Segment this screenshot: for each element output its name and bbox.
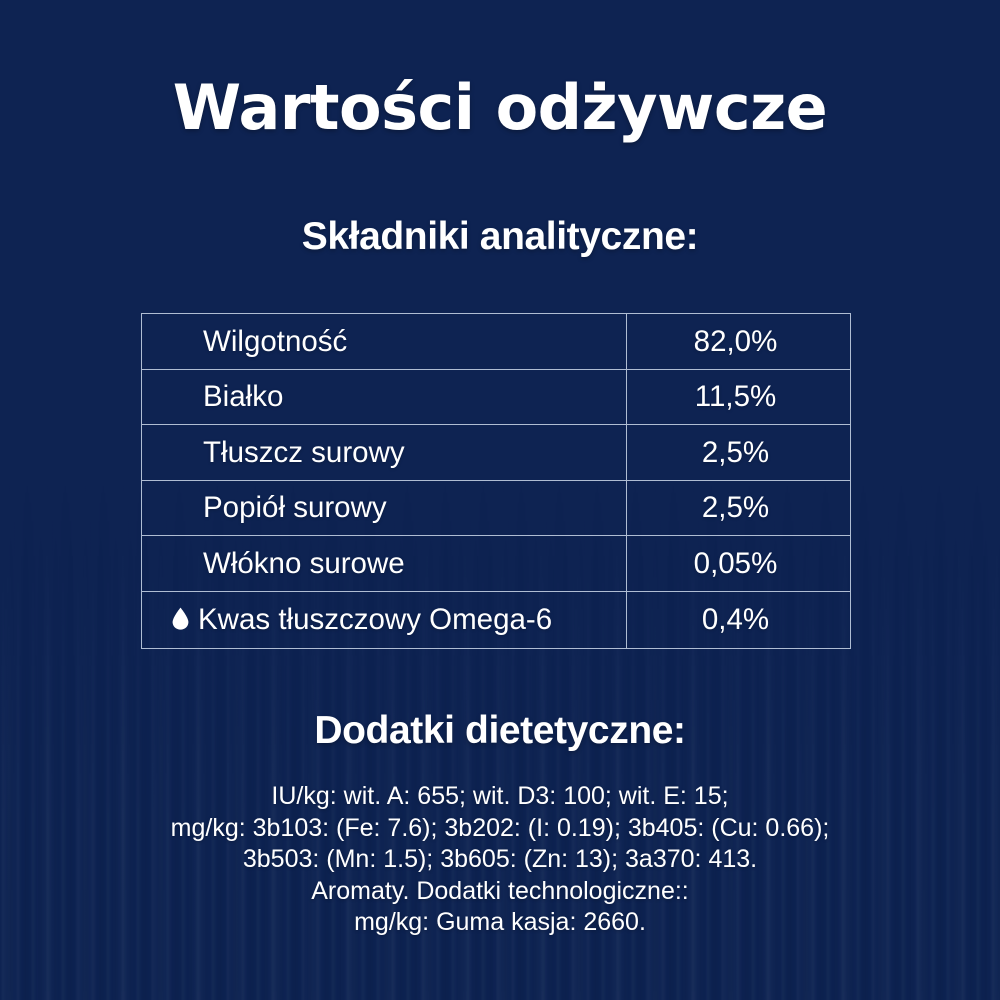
additives-line: Aromaty. Dodatki technologiczne:: <box>50 876 950 908</box>
table-row: Popiół surowy 2,5% <box>142 481 850 537</box>
table-row: Wilgotność 82,0% <box>142 314 850 370</box>
table-row: Tłuszcz surowy 2,5% <box>142 425 850 481</box>
nutrient-label: Tłuszcz surowy <box>203 438 405 468</box>
nutrient-value-cell: 0,4% <box>627 592 850 648</box>
additives-line: mg/kg: 3b103: (Fe: 7.6); 3b202: (I: 0.19… <box>50 813 950 845</box>
nutrient-label-cell: Wilgotność <box>142 314 627 369</box>
nutrient-value: 82,0% <box>694 327 778 357</box>
nutrient-label-cell: Popiół surowy <box>142 481 627 536</box>
nutrient-label: Wilgotność <box>203 327 347 357</box>
nutrient-label: Popiół surowy <box>203 493 387 523</box>
table-row: Białko 11,5% <box>142 370 850 426</box>
nutrient-value-cell: 2,5% <box>627 481 850 536</box>
table-row: Włókno surowe 0,05% <box>142 536 850 592</box>
nutrient-label-cell: Włókno surowe <box>142 536 627 591</box>
page-title: Wartości odżywcze <box>0 70 1000 146</box>
additives-line: 3b503: (Mn: 1.5); 3b605: (Zn: 13); 3a370… <box>50 844 950 876</box>
additives-line: IU/kg: wit. A: 655; wit. D3: 100; wit. E… <box>50 781 950 813</box>
droplet-icon <box>172 607 189 630</box>
nutrient-value-cell: 82,0% <box>627 314 850 369</box>
nutrient-value: 11,5% <box>695 382 776 412</box>
analytical-section-heading: Składniki analityczne: <box>0 213 1000 261</box>
additives-section-heading: Dodatki dietetyczne: <box>0 707 1000 755</box>
nutrient-label-cell: Tłuszcz surowy <box>142 425 627 480</box>
analytical-nutrition-table: Wilgotność 82,0% Białko 11,5% Tłuszcz su… <box>141 313 851 649</box>
nutrient-value: 2,5% <box>702 438 769 468</box>
additives-paragraph: IU/kg: wit. A: 655; wit. D3: 100; wit. E… <box>50 781 950 939</box>
nutrient-label-cell: Kwas tłuszczowy Omega-6 <box>142 592 627 648</box>
nutrient-label: Kwas tłuszczowy Omega-6 <box>198 605 552 635</box>
additives-line: mg/kg: Guma kasja: 2660. <box>50 907 950 939</box>
nutrient-value: 2,5% <box>702 493 769 523</box>
nutrient-value-cell: 11,5% <box>627 370 850 425</box>
panel-content: Wartości odżywcze Składniki analityczne:… <box>0 0 1000 1000</box>
nutrient-label: Włókno surowe <box>203 549 405 579</box>
nutrient-label-cell: Białko <box>142 370 627 425</box>
nutrient-value-cell: 2,5% <box>627 425 850 480</box>
nutrition-panel: Wartości odżywcze Składniki analityczne:… <box>0 0 1000 1000</box>
nutrient-label: Białko <box>203 382 283 412</box>
table-row: Kwas tłuszczowy Omega-6 0,4% <box>142 592 850 648</box>
nutrient-value: 0,4% <box>702 605 769 635</box>
nutrient-value-cell: 0,05% <box>627 536 850 591</box>
nutrient-value: 0,05% <box>694 549 778 579</box>
